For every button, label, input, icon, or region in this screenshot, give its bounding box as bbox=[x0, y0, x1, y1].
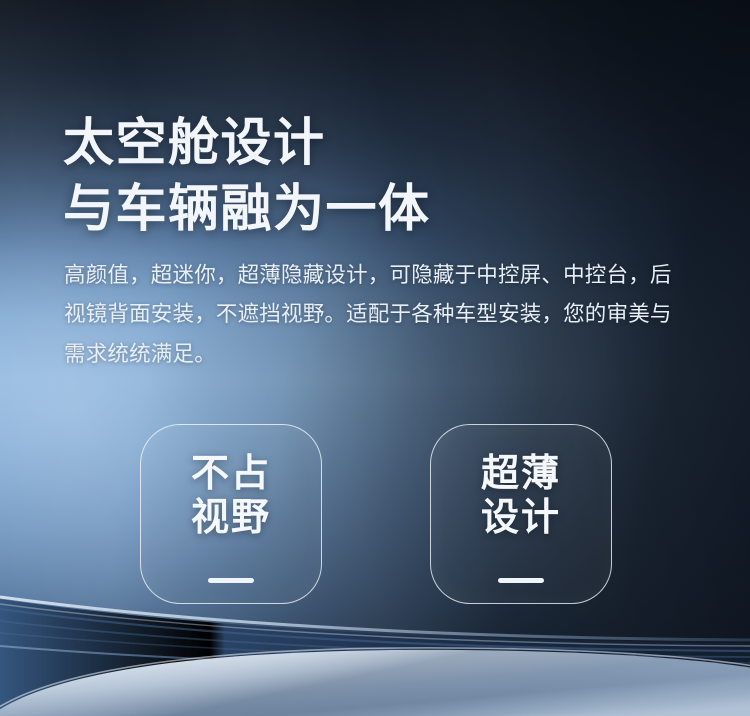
content-area: 太空舱设计 与车辆融为一体 高颜值，超迷你，超薄隐藏设计，可隐藏于中控屏、中控台… bbox=[0, 0, 750, 716]
feature-card-ultra-thin-rule bbox=[498, 578, 544, 583]
headline-line-2: 与车辆融为一体 bbox=[63, 176, 431, 242]
feature-card-no-blockage-text: 不占 视野 bbox=[191, 452, 271, 541]
headline-line-1: 太空舱设计 bbox=[63, 110, 431, 176]
feature-card-ultra-thin[interactable]: 超薄 设计 bbox=[430, 424, 612, 604]
promo-banner: 太空舱设计 与车辆融为一体 高颜值，超迷你，超薄隐藏设计，可隐藏于中控屏、中控台… bbox=[0, 0, 750, 716]
feature-card-ultra-thin-line-1: 超薄 bbox=[481, 452, 561, 496]
feature-card-list: 不占 视野 超薄 设计 bbox=[140, 424, 612, 604]
feature-card-no-blockage-line-1: 不占 bbox=[191, 452, 271, 496]
body-paragraph: 高颜值，超迷你，超薄隐藏设计，可隐藏于中控屏、中控台，后视镜背面安装，不遮挡视野… bbox=[64, 256, 680, 376]
feature-card-ultra-thin-line-2: 设计 bbox=[481, 496, 561, 540]
feature-card-no-blockage-rule bbox=[208, 578, 254, 583]
feature-card-ultra-thin-text: 超薄 设计 bbox=[481, 452, 561, 541]
feature-card-no-blockage-line-2: 视野 bbox=[191, 496, 271, 540]
page-title: 太空舱设计 与车辆融为一体 bbox=[63, 110, 431, 242]
feature-card-no-blockage[interactable]: 不占 视野 bbox=[140, 424, 322, 604]
